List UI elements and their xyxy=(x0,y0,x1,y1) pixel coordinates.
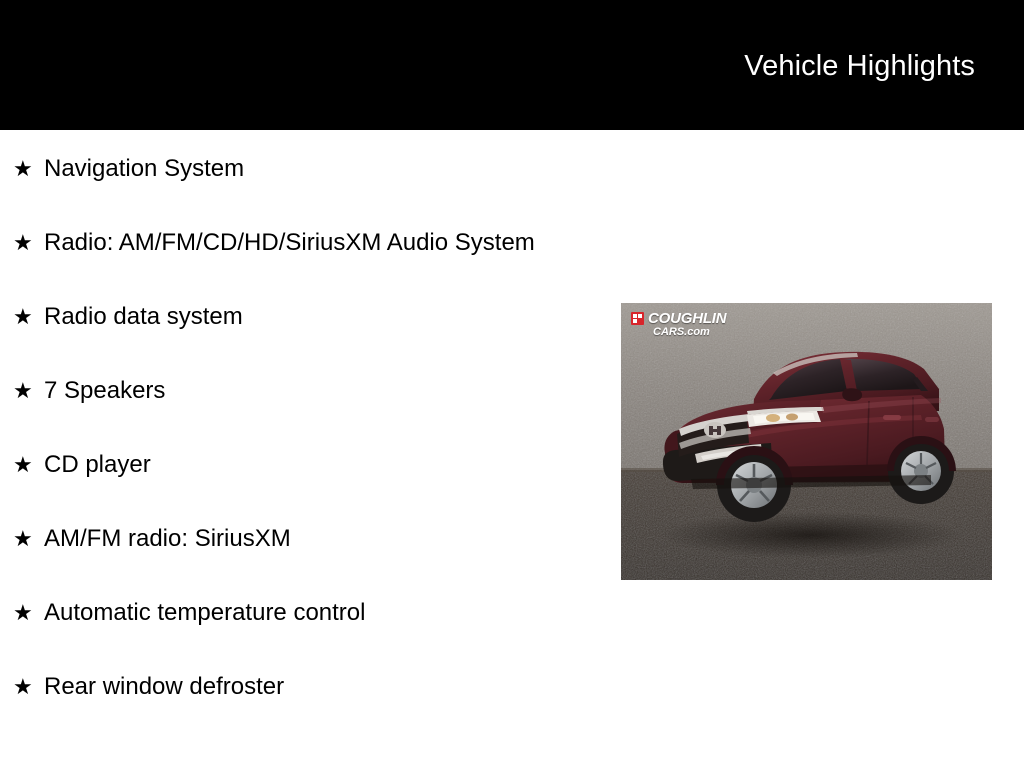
list-item-label: CD player xyxy=(44,448,554,482)
list-item: ★ Radio data system xyxy=(0,300,600,334)
list-item: ★ 7 Speakers xyxy=(0,374,600,408)
list-item-label: Rear window defroster xyxy=(44,670,554,704)
page-title: Vehicle Highlights xyxy=(744,49,975,83)
list-item-label: AM/FM radio: SiriusXM xyxy=(44,522,554,556)
vehicle-highlights-list: ★ Navigation System ★ Radio: AM/FM/CD/HD… xyxy=(0,152,600,704)
list-item: ★ Radio: AM/FM/CD/HD/SiriusXM Audio Syst… xyxy=(0,226,600,260)
list-item: ★ Rear window defroster xyxy=(0,670,600,704)
list-item-label: Navigation System xyxy=(44,152,554,186)
header-bar: Vehicle Highlights xyxy=(0,0,1024,130)
star-icon: ★ xyxy=(13,448,33,481)
star-icon: ★ xyxy=(13,300,33,333)
vehicle-photo: COUGHLIN CARS.com xyxy=(621,303,992,580)
list-item: ★ Navigation System xyxy=(0,152,600,186)
list-item-label: Radio: AM/FM/CD/HD/SiriusXM Audio System xyxy=(44,226,554,260)
list-item: ★ AM/FM radio: SiriusXM xyxy=(0,522,600,556)
star-icon: ★ xyxy=(13,670,33,703)
vehicle-photo-image xyxy=(621,303,992,580)
star-icon: ★ xyxy=(13,596,33,629)
list-item: ★ CD player xyxy=(0,448,600,482)
star-icon: ★ xyxy=(13,374,33,407)
star-icon: ★ xyxy=(13,226,33,259)
list-item-label: Automatic temperature control xyxy=(44,596,554,630)
star-icon: ★ xyxy=(13,522,33,555)
list-item: ★ Automatic temperature control xyxy=(0,596,600,630)
list-item-label: 7 Speakers xyxy=(44,374,554,408)
list-item-label: Radio data system xyxy=(44,300,554,334)
star-icon: ★ xyxy=(13,152,33,185)
